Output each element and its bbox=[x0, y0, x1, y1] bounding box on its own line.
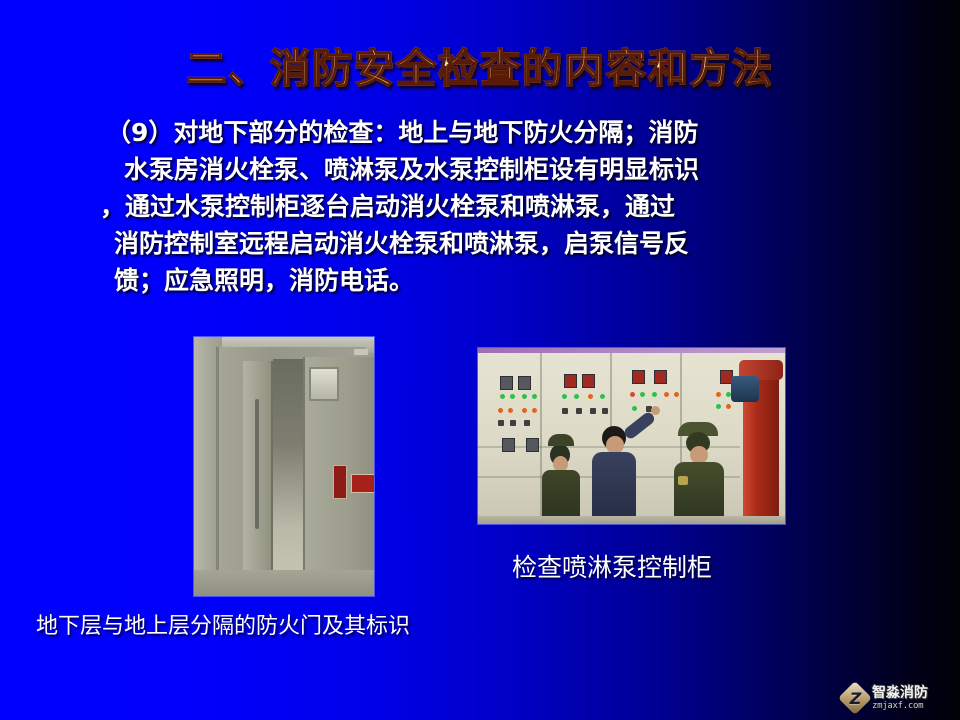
brand-name: 智淼消防 bbox=[872, 686, 928, 700]
indicator-lamp-amber bbox=[716, 392, 721, 397]
brand-logo-icon: Z bbox=[842, 685, 869, 712]
pump-cabinet-caption: 检查喷淋泵控制柜 bbox=[512, 548, 712, 584]
indicator-lamp-red bbox=[630, 392, 635, 397]
indicator-lamp-green bbox=[522, 394, 527, 399]
indicator-lamp-green bbox=[716, 404, 721, 409]
panel-button bbox=[562, 408, 568, 414]
cap-brim bbox=[548, 434, 574, 446]
door-frame bbox=[216, 347, 365, 596]
body-line-2: 水泵房消火栓泵、喷淋泵及水泵控制柜设有明显标识 bbox=[96, 151, 882, 188]
panel-button bbox=[498, 420, 504, 426]
panel-meter bbox=[526, 438, 539, 452]
inspector-worker-center bbox=[590, 412, 648, 524]
inspector-officer-left bbox=[540, 426, 582, 524]
pointing-hand bbox=[651, 406, 660, 415]
panel-meter bbox=[564, 374, 577, 388]
door-closer-plate bbox=[354, 349, 368, 355]
brand-url: zmjaxf.com bbox=[872, 702, 928, 711]
indicator-lamp-amber bbox=[532, 408, 537, 413]
panel-meter bbox=[632, 370, 645, 384]
inspector-officer-right bbox=[674, 420, 726, 524]
watermark: Z 智淼消防 zmjaxf.com bbox=[842, 681, 954, 715]
indicator-lamp-green bbox=[500, 394, 505, 399]
indicator-lamp-green bbox=[532, 394, 537, 399]
page-title: 二、消防安全检查的内容和方法 bbox=[0, 44, 960, 94]
fire-door-caption: 地下层与地上层分隔的防火门及其标识 bbox=[36, 608, 410, 640]
indicator-lamp-amber bbox=[588, 394, 593, 399]
door-vision-panel bbox=[309, 367, 339, 401]
body-line-4: 消防控制室远程启动消火栓泵和喷淋泵，启泵信号反 bbox=[96, 225, 882, 262]
indicator-lamp-amber bbox=[498, 408, 503, 413]
indicator-lamp-green bbox=[562, 394, 567, 399]
floor-line bbox=[478, 516, 785, 524]
pump-control-cabinet-photo bbox=[478, 348, 785, 524]
watermark-text: 智淼消防 zmjaxf.com bbox=[872, 686, 928, 711]
logo-letter: Z bbox=[842, 685, 869, 712]
red-sign-vertical bbox=[333, 465, 347, 499]
floor bbox=[194, 570, 374, 596]
indicator-lamp-amber bbox=[508, 408, 513, 413]
indicator-lamp-amber bbox=[674, 392, 679, 397]
indicator-lamp-amber bbox=[726, 404, 731, 409]
panel-button bbox=[510, 420, 516, 426]
indicator-lamp-green bbox=[632, 406, 637, 411]
indicator-lamp-green bbox=[640, 392, 645, 397]
body-paragraph: （9）对地下部分的检查：地上与地下防火分隔；消防 水泵房消火栓泵、喷淋泵及水泵控… bbox=[96, 114, 882, 299]
panel-meter bbox=[654, 370, 667, 384]
panel-meter bbox=[502, 438, 515, 452]
body-line-3: ，通过水泵控制柜逐台启动消火栓泵和喷淋泵，通过 bbox=[96, 188, 882, 225]
indicator-lamp-green bbox=[652, 392, 657, 397]
panel-meter bbox=[518, 376, 531, 390]
indicator-lamp-green bbox=[510, 394, 515, 399]
red-sign-horizontal bbox=[351, 474, 374, 493]
panel-meter bbox=[582, 374, 595, 388]
corridor-gap bbox=[273, 359, 303, 596]
body-line-5: 馈；应急照明，消防电话。 bbox=[96, 262, 882, 299]
fire-door-photo bbox=[194, 337, 374, 596]
officer-uniform bbox=[674, 462, 724, 524]
panel-button bbox=[576, 408, 582, 414]
worker-jacket bbox=[592, 452, 636, 524]
panel-meter bbox=[500, 376, 513, 390]
panel-button bbox=[524, 420, 530, 426]
indicator-lamp-green bbox=[600, 394, 605, 399]
indicator-lamp-amber bbox=[522, 408, 527, 413]
shoulder-insignia bbox=[678, 476, 688, 485]
indicator-lamp-amber bbox=[664, 392, 669, 397]
hydrant-valve bbox=[731, 376, 759, 402]
closed-door-leaf bbox=[303, 357, 374, 596]
door-handle bbox=[255, 399, 259, 529]
body-line-1: （9）对地下部分的检查：地上与地下防火分隔；消防 bbox=[96, 114, 882, 151]
indicator-lamp-green bbox=[574, 394, 579, 399]
slide-canvas: 二、消防安全检查的内容和方法 （9）对地下部分的检查：地上与地下防火分隔；消防 … bbox=[0, 0, 960, 720]
